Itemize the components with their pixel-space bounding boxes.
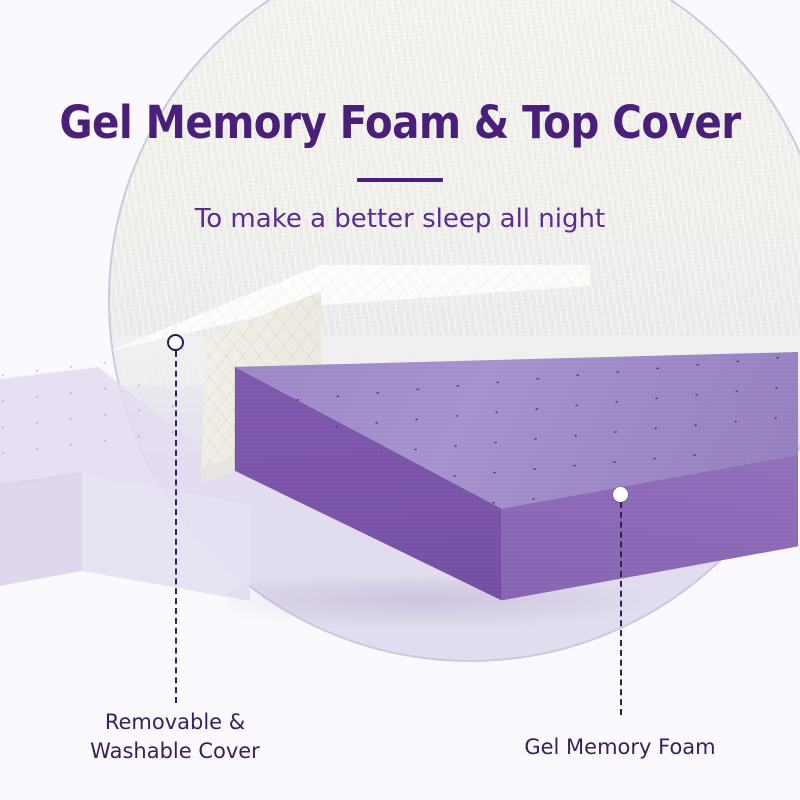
callout-label-cover-line2: Washable Cover: [35, 737, 315, 766]
callout-label-foam: Gel Memory Foam: [490, 733, 750, 762]
gel-foam-illustration: [228, 352, 798, 622]
callout-marker-cover[interactable]: [167, 334, 184, 351]
callout-label-cover-line1: Removable &: [35, 708, 315, 737]
page-title: Gel Memory Foam & Top Cover: [0, 95, 800, 151]
callout-leader-cover: [175, 351, 177, 703]
page-subtitle: To make a better sleep all night: [0, 202, 800, 236]
callout-leader-foam: [620, 502, 622, 715]
callout-label-cover: Removable & Washable Cover: [35, 708, 315, 766]
callout-marker-foam[interactable]: [613, 487, 628, 502]
callout-label-foam-line1: Gel Memory Foam: [490, 733, 750, 762]
infographic-canvas: Gel Memory Foam & Top Cover To make a be…: [0, 0, 800, 800]
title-divider: [357, 178, 443, 182]
